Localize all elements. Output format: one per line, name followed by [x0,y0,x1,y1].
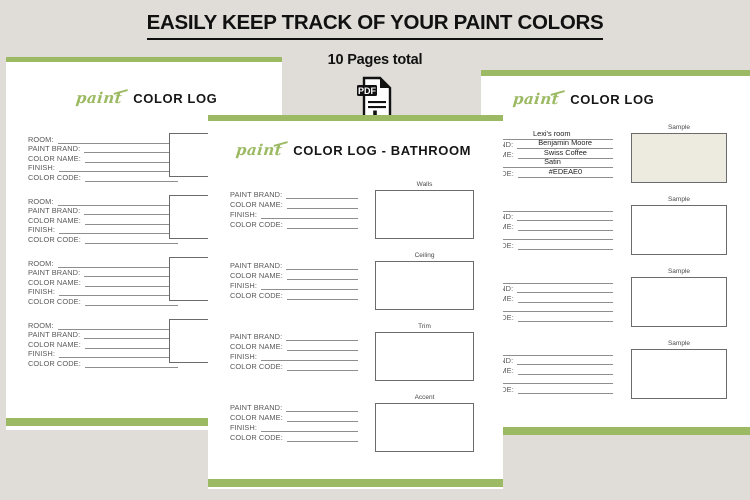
field-color-code[interactable]: COLOR CODE: [28,172,178,182]
field-finish[interactable]: FINISH: [230,280,358,290]
product-mockup-canvas: EASILY KEEP TRACK OF YOUR PAINT COLORS 1… [0,0,750,500]
field-finish[interactable]: FINISH: [230,351,358,361]
list-item: ROOM: PAINT BRAND: COLOR NAME: FINISH: C… [28,258,178,306]
sample-swatch-label: Sample [631,124,727,131]
field-finish[interactable]: FINISH: [230,422,358,432]
sample-swatch[interactable] [631,349,727,399]
page-title-text: EASILY KEEP TRACK OF YOUR PAINT COLORS [147,11,604,40]
middle-page-logo: paint COLOR LOG - BATHROOM [236,141,471,159]
right-page-bottom-accent-bar [495,427,750,435]
logo-script-text: paint [512,90,560,108]
accent-swatch[interactable] [375,403,474,452]
list-item: PAINT BRAND: COLOR NAME: FINISH: COLOR C… [230,402,358,442]
sample-swatch[interactable] [631,133,727,183]
svg-text:PDF: PDF [358,86,377,96]
logo-script-text: paint [235,141,283,159]
list-item: ROOM: PAINT BRAND: COLOR NAME: FINISH: C… [28,196,178,244]
ceiling-swatch-label: Ceiling [375,252,474,259]
pages-total-label: 10 Pages total [300,52,450,68]
sample-swatch[interactable] [631,277,727,327]
sample-swatch-label: Sample [631,268,727,275]
sample-swatch[interactable] [631,205,727,255]
sample-swatch-label: Sample [631,340,727,347]
list-item: ROOM: PAINT BRAND: COLOR NAME: FINISH: C… [28,134,178,182]
walls-swatch-label: Walls [375,181,474,188]
logo-script-text: paint [75,89,123,107]
field-color-code[interactable]: COLOR CODE: [230,290,358,300]
field-color-name[interactable]: COLOR NAME: [230,341,358,351]
field-color-code[interactable]: COLOR CODE: [28,234,178,244]
right-page: paint COLOR LOG ROOM:Lexi's room PAINT B… [481,76,750,433]
sample-swatch-label: Sample [631,196,727,203]
left-page-heading: COLOR LOG [133,91,217,106]
trim-swatch-label: Trim [375,323,474,330]
field-color-code[interactable]: COLOR CODE: [28,358,178,368]
middle-page-heading: COLOR LOG - BATHROOM [293,143,471,158]
trim-swatch[interactable] [375,332,474,381]
field-paint-brand[interactable]: PAINT BRAND: [230,331,358,341]
list-item: PAINT BRAND: COLOR NAME: FINISH: COLOR C… [230,189,358,229]
middle-page-bottom-accent-bar [208,479,503,487]
field-color-code[interactable]: COLOR CODE: [230,432,358,442]
middle-page: paint COLOR LOG - BATHROOM PAINT BRAND: … [208,121,503,489]
field-color-code[interactable]: COLOR CODE: [230,219,358,229]
field-color-name[interactable]: COLOR NAME: [230,199,358,209]
accent-swatch-label: Accent [375,394,474,401]
page-title: EASILY KEEP TRACK OF YOUR PAINT COLORS [0,11,750,40]
right-page-heading: COLOR LOG [570,92,654,107]
field-paint-brand[interactable]: PAINT BRAND: [230,402,358,412]
field-color-name[interactable]: COLOR NAME: [230,412,358,422]
right-page-logo: paint COLOR LOG [513,90,654,108]
field-color-name[interactable]: COLOR NAME: [230,270,358,280]
field-color-code[interactable]: COLOR CODE: [28,296,178,306]
list-item: ROOM: PAINT BRAND: COLOR NAME: FINISH: C… [28,320,178,368]
field-paint-brand[interactable]: PAINT BRAND: [230,260,358,270]
list-item: PAINT BRAND: COLOR NAME: FINISH: COLOR C… [230,331,358,371]
field-paint-brand[interactable]: PAINT BRAND: [230,189,358,199]
list-item: PAINT BRAND: COLOR NAME: FINISH: COLOR C… [230,260,358,300]
left-page-logo: paint COLOR LOG [76,89,217,107]
field-finish[interactable]: FINISH: [230,209,358,219]
ceiling-swatch[interactable] [375,261,474,310]
field-color-code[interactable]: COLOR CODE: [230,361,358,371]
walls-swatch[interactable] [375,190,474,239]
